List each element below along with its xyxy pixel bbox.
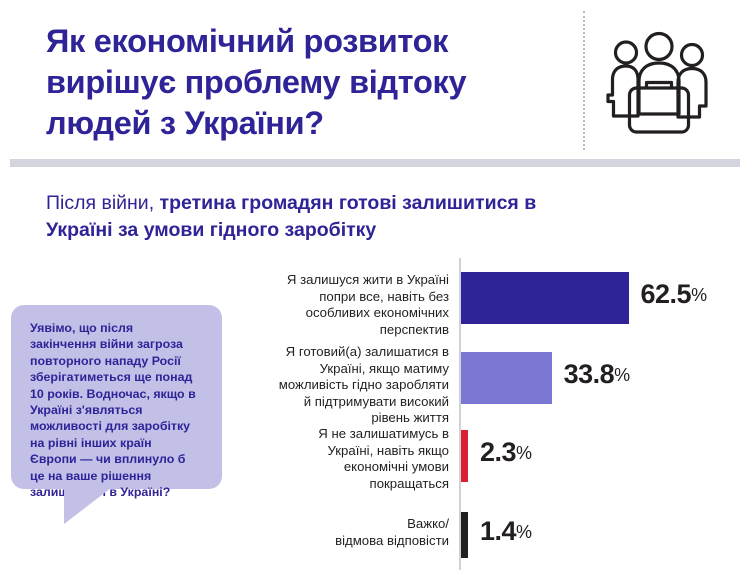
speech-bubble-tail [64,488,111,524]
section-subtitle: Після війни, третина громадян готові зал… [46,190,606,244]
chart-bar [461,352,552,404]
chart-row: Я не залишатимусь в Україні, навіть якщо… [250,422,740,488]
subtitle-lead: Після війни, [46,192,160,214]
chart-row: Важко/ відмова відповісти1.4% [250,508,740,568]
horizontal-bar-chart: Я залишуся жити в Україні попри все, нав… [250,258,740,570]
chart-value-number: 33.8 [564,359,615,389]
header-divider [583,11,585,150]
percent-sign: % [614,365,630,385]
percent-sign: % [516,522,532,542]
chart-value-number: 1.4 [480,516,516,546]
chart-value-number: 62.5 [641,279,692,309]
chart-row-label: Я залишуся жити в Україні попри все, нав… [250,272,449,338]
group-of-people-with-suitcase-icon [600,29,718,141]
infographic-page: Як економічний розвиток вирішує проблему… [0,0,740,570]
question-speech-bubble: Уявімо, що після закінчення війни загроз… [11,305,222,523]
header: Як економічний розвиток вирішує проблему… [0,0,740,160]
chart-bar [461,430,468,482]
chart-row-label: Я готовий(а) залишатися в Україні, якщо … [250,344,449,427]
chart-value-number: 2.3 [480,437,516,467]
chart-value-label: 1.4% [480,516,532,547]
chart-row-label: Важко/ відмова відповісти [250,516,449,549]
percent-sign: % [516,443,532,463]
percent-sign: % [691,285,707,305]
section-divider-band [10,159,740,167]
chart-bar [461,512,468,558]
chart-row-label: Я не залишатимусь в Україні, навіть якщо… [250,426,449,492]
speech-bubble-text: Уявімо, що після закінчення війни загроз… [30,320,205,500]
page-title: Як економічний розвиток вирішує проблему… [46,21,571,144]
chart-row: Я готовий(а) залишатися в Україні, якщо … [250,340,740,406]
chart-value-label: 62.5% [641,279,707,310]
chart-bar [461,272,629,324]
chart-value-label: 2.3% [480,437,532,468]
chart-value-label: 33.8% [564,359,630,390]
chart-row: Я залишуся жити в Україні попри все, нав… [250,258,740,324]
